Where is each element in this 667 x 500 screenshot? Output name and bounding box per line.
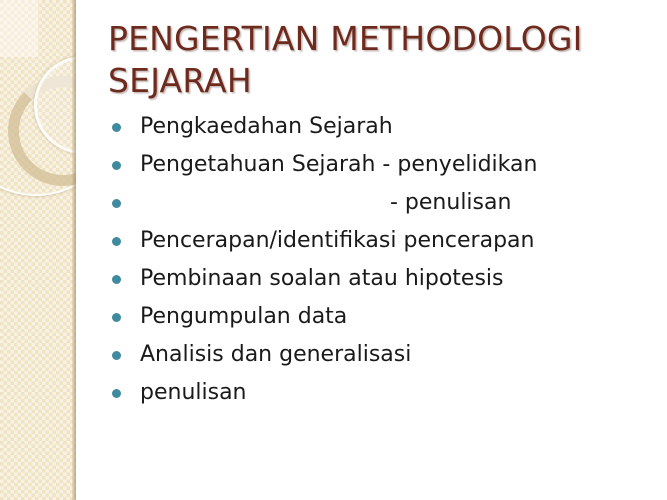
bullet-dot-icon <box>112 161 121 170</box>
list-item-label: Pengumpulan data <box>140 304 347 330</box>
list-item: Pencerapan/identifikasi pencerapan <box>112 222 652 260</box>
decorative-sidebar <box>0 0 76 500</box>
page-title: PENGERTIAN METHODOLOGI SEJARAH <box>108 18 644 102</box>
list-item-label: Pembinaan soalan atau hipotesis <box>140 266 504 292</box>
sidebar-edge-divider <box>72 0 76 500</box>
list-item: Pembinaan soalan atau hipotesis <box>112 260 652 298</box>
bullet-dot-icon <box>112 389 121 398</box>
bullet-dot-icon <box>112 237 121 246</box>
bullet-dot-icon <box>112 275 121 284</box>
list-item-label: Pengetahuan Sejarah - penyelidikan <box>140 152 537 178</box>
bullet-dot-icon <box>112 123 121 132</box>
list-item: Pengetahuan Sejarah - penyelidikan <box>112 146 652 184</box>
list-item: Pengumpulan data <box>112 298 652 336</box>
bullet-list: Pengkaedahan Sejarah Pengetahuan Sejarah… <box>112 108 652 412</box>
slide-canvas: PENGERTIAN METHODOLOGI SEJARAH Pengkaeda… <box>0 0 667 500</box>
list-item-label: Pencerapan/identifikasi pencerapan <box>140 228 534 254</box>
list-item: Pengkaedahan Sejarah <box>112 108 652 146</box>
list-item: - penulisan <box>112 184 652 222</box>
bullet-dot-icon <box>112 313 121 322</box>
bullet-dot-icon <box>112 199 121 208</box>
list-item: Analisis dan generalisasi <box>112 336 652 374</box>
list-item-label: penulisan <box>140 380 247 406</box>
list-item-label: Pengkaedahan Sejarah <box>140 114 393 140</box>
bullet-dot-icon <box>112 351 121 360</box>
list-item-label: Analisis dan generalisasi <box>140 342 411 368</box>
list-item: penulisan <box>112 374 652 412</box>
list-item-label: - penulisan <box>140 190 511 216</box>
